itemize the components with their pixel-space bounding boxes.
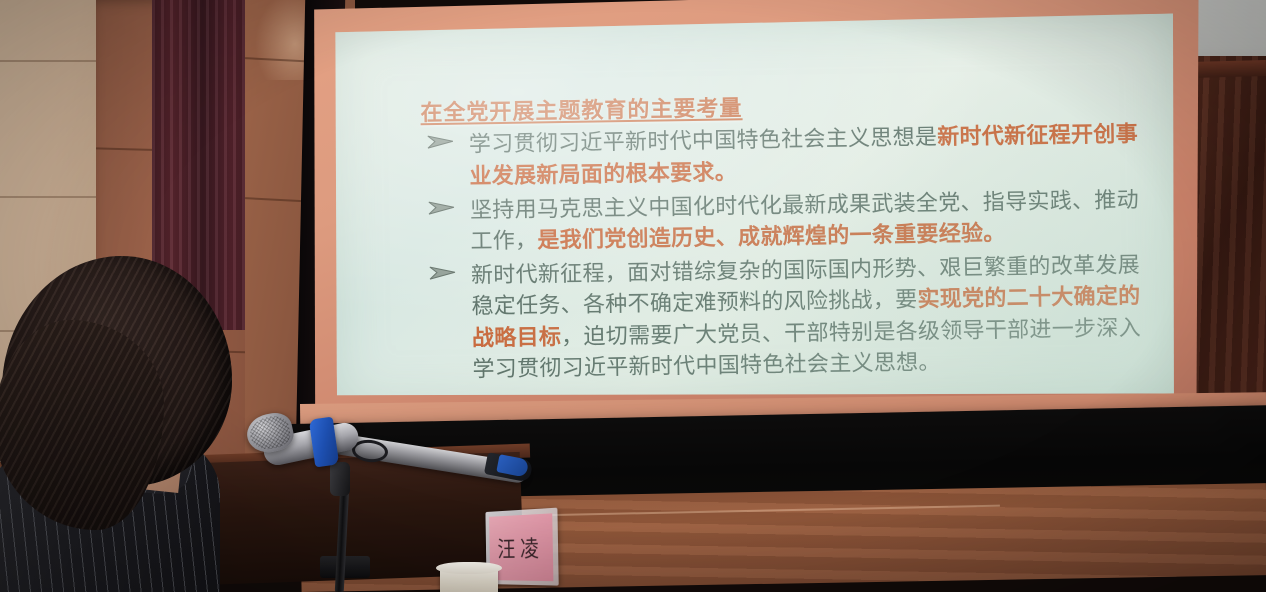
screen-surface: 在全党开展主题教育的主要考量 学习贯彻习近平新时代中国特色社会主义思想是新时代新… bbox=[331, 13, 1179, 406]
slide-content: 在全党开展主题教育的主要考量 学习贯彻习近平新时代中国特色社会主义思想是新时代新… bbox=[420, 90, 1150, 390]
bullet-3-text-plain-b: ，迫切需要广大党员、干部特别是各级领导干部进一步深入学习贯彻习近平新时代中国特色… bbox=[472, 316, 1141, 383]
bullet-2-text-emphasis: 是我们党创造历史、成就辉煌的一条重要经验。 bbox=[537, 221, 1006, 253]
name-card-face: 汪凌 bbox=[489, 513, 553, 581]
arrow-bullet-icon bbox=[427, 134, 459, 155]
paper-cup-rim bbox=[436, 562, 502, 574]
bullet-1-text-plain: 学习贯彻习近平新时代中国特色社会主义思想是 bbox=[469, 125, 938, 157]
mic-stand-joint bbox=[330, 462, 350, 496]
arrow-bullet-icon bbox=[429, 265, 461, 286]
slide-bullet-2: 坚持用马克思主义中国化时代化最新成果武装全党、指导实践、推动工作，是我们党创造历… bbox=[422, 185, 1149, 259]
arrow-bullet-icon bbox=[428, 199, 460, 220]
projection-screen: 在全党开展主题教育的主要考量 学习贯彻习近平新时代中国特色社会主义思想是新时代新… bbox=[309, 0, 1206, 431]
slide-bullet-3: 新时代新征程，面对错综复杂的国际国内形势、艰巨繁重的改革发展稳定任务、各种不确定… bbox=[423, 250, 1151, 386]
presenter bbox=[0, 250, 300, 592]
slide-bullet-list: 学习贯彻习近平新时代中国特色社会主义思想是新时代新征程开创事业发展新局面的根本要… bbox=[421, 119, 1151, 386]
presenter-hair-side bbox=[0, 320, 164, 530]
slide-bullet-1: 学习贯彻习近平新时代中国特色社会主义思想是新时代新征程开创事业发展新局面的根本要… bbox=[421, 119, 1148, 193]
name-card-text: 汪凌 bbox=[497, 531, 544, 564]
presentation-scene: 在全党开展主题教育的主要考量 学习贯彻习近平新时代中国特色社会主义思想是新时代新… bbox=[0, 0, 1266, 592]
